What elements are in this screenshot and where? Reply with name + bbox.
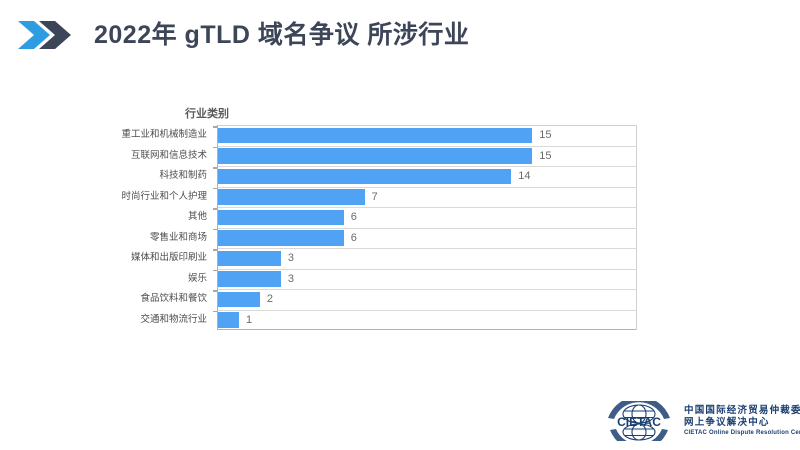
bar[interactable] (218, 292, 260, 308)
axis-tick (213, 208, 217, 210)
category-label: 零售业和商场 (150, 228, 207, 249)
category-label: 娱乐 (188, 269, 207, 290)
bar-value-label: 2 (267, 292, 273, 307)
cietac-logo-text: 中国国际经济贸易仲裁委员会 网上争议解决中心 CIETAC Online Dis… (684, 405, 800, 438)
slide-header: 2022年 gTLD 域名争议 所涉行业 (0, 0, 800, 70)
cietac-logo: CIETAC 中国国际经济贸易仲裁委员会 网上争议解决中心 CIETAC Onl… (600, 400, 795, 442)
chart-gridline (218, 310, 637, 331)
chart-row: 1 (218, 310, 636, 331)
category-label: 食品饮料和餐饮 (140, 289, 207, 310)
axis-tick (213, 167, 217, 169)
org-name-cn-line2: 网上争议解决中心 (684, 417, 800, 429)
chart-row: 7 (218, 187, 636, 208)
double-chevron-icon (16, 18, 74, 52)
chart-row: 3 (218, 269, 636, 290)
org-name-en: CIETAC Online Dispute Resolution Center (684, 429, 800, 438)
category-label: 媒体和出版印刷业 (131, 248, 207, 269)
cietac-globe-icon: CIETAC (600, 401, 678, 441)
bar-value-label: 14 (518, 169, 530, 184)
cietac-wordmark: CIETAC (617, 415, 661, 429)
bar[interactable] (218, 312, 239, 328)
chart-plot: 重工业和机械制造业互联网和信息技术科技和制药时尚行业和个人护理其他零售业和商场媒… (110, 125, 640, 335)
axis-tick (213, 290, 217, 292)
bar[interactable] (218, 189, 365, 205)
axis-tick (213, 147, 217, 149)
axis-tick (213, 249, 217, 251)
org-name-cn-line1: 中国国际经济贸易仲裁委员会 (684, 405, 800, 417)
chart-row: 6 (218, 228, 636, 249)
chart-row: 6 (218, 207, 636, 228)
page-title: 2022年 gTLD 域名争议 所涉行业 (94, 23, 469, 48)
chart-row: 2 (218, 289, 636, 310)
bar[interactable] (218, 210, 344, 226)
industry-bar-chart: 行业类别 重工业和机械制造业互联网和信息技术科技和制药时尚行业和个人护理其他零售… (110, 105, 640, 340)
bar[interactable] (218, 148, 532, 164)
bar-value-label: 15 (539, 149, 551, 164)
bar-value-label: 6 (351, 210, 357, 225)
chart-gridline (218, 269, 637, 290)
axis-tick (213, 126, 217, 128)
bar-value-label: 7 (372, 190, 378, 205)
axis-tick (213, 311, 217, 313)
bar[interactable] (218, 230, 344, 246)
bar[interactable] (218, 169, 511, 185)
chart-row: 3 (218, 248, 636, 269)
chart-row: 15 (218, 125, 636, 146)
chart-gridline (218, 248, 637, 269)
chart-row: 14 (218, 166, 636, 187)
bar[interactable] (218, 128, 532, 144)
category-label: 重工业和机械制造业 (121, 125, 207, 146)
bar-value-label: 1 (246, 313, 252, 328)
axis-tick (213, 188, 217, 190)
bar[interactable] (218, 251, 281, 267)
bar[interactable] (218, 271, 281, 287)
bar-value-label: 3 (288, 272, 294, 287)
axis-tick (213, 229, 217, 231)
category-axis: 重工业和机械制造业互联网和信息技术科技和制药时尚行业和个人护理其他零售业和商场媒… (110, 125, 213, 330)
chart-axis-title: 行业类别 (185, 105, 229, 121)
bar-value-label: 3 (288, 251, 294, 266)
bar-value-label: 15 (539, 128, 551, 143)
category-label: 交通和物流行业 (140, 310, 207, 331)
plot-area: 1515147663321 (217, 125, 636, 330)
axis-tick (213, 270, 217, 272)
category-label: 时尚行业和个人护理 (121, 187, 207, 208)
chart-gridline (218, 289, 637, 310)
category-label: 其他 (188, 207, 207, 228)
category-label: 互联网和信息技术 (131, 146, 207, 167)
category-label: 科技和制药 (159, 166, 207, 187)
bar-value-label: 6 (351, 231, 357, 246)
chart-row: 15 (218, 146, 636, 167)
